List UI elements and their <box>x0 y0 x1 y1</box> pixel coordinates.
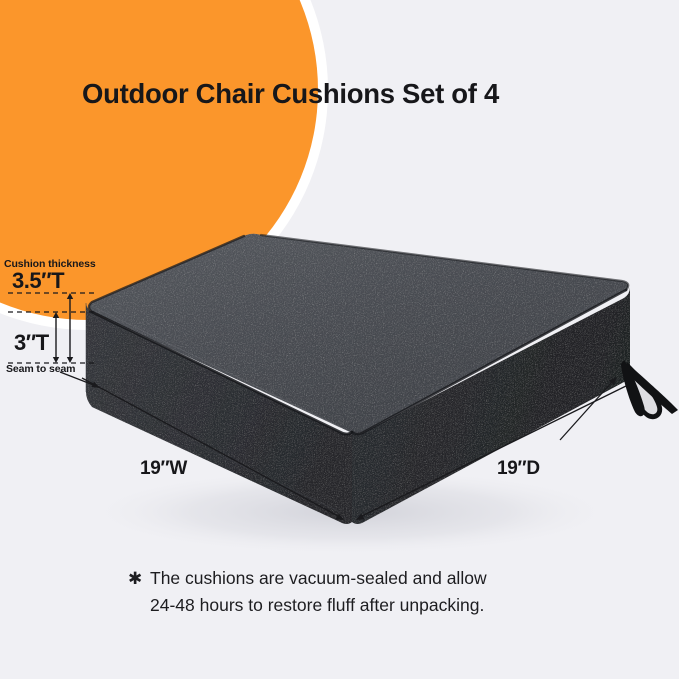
infographic-canvas: Outdoor Chair Cushions Set of 4 Cushion … <box>0 0 679 679</box>
footnote-line-1: The cushions are vacuum-sealed and allow <box>150 565 598 592</box>
depth-label: 19″D <box>497 458 540 480</box>
thickness-dimension-guides <box>0 250 110 385</box>
width-label: 19″W <box>140 458 187 480</box>
footnote: ✱ The cushions are vacuum-sealed and all… <box>128 565 598 619</box>
tie-strap <box>621 360 678 419</box>
footnote-line-2: 24-48 hours to restore fluff after unpac… <box>150 592 598 619</box>
asterisk-icon: ✱ <box>128 565 142 592</box>
page-title: Outdoor Chair Cushions Set of 4 <box>82 78 499 110</box>
